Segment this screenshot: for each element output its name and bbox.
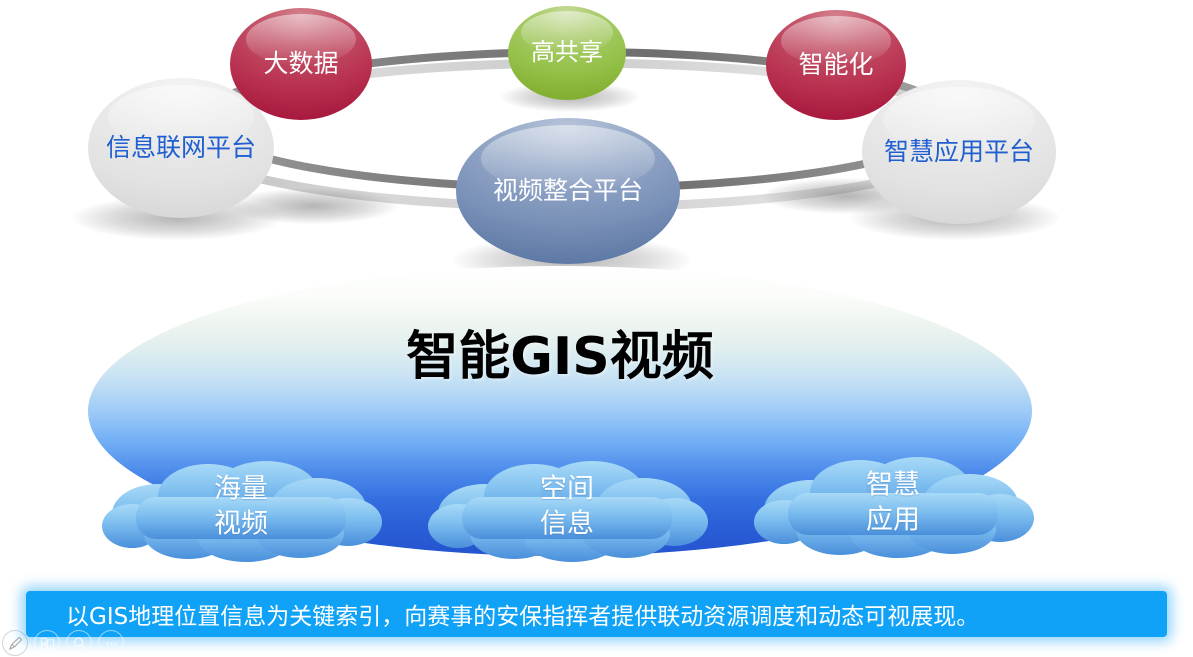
cloud-smart-application[interactable]: 智慧 应用 — [748, 448, 1038, 558]
cloud-label: 空间 信息 — [422, 472, 712, 541]
caption-bar: 以GIS地理位置信息为关键索引，向赛事的安保指挥者提供联动资源调度和动态可视展现… — [26, 591, 1167, 637]
sphere-high-sharing[interactable]: 高共享 — [508, 6, 626, 100]
sphere-label: 高共享 — [531, 39, 603, 67]
cloud-label: 海量 视频 — [96, 472, 386, 541]
sphere-label: 智慧应用平台 — [884, 138, 1034, 167]
cloud-spatial-information[interactable]: 空间 信息 — [422, 452, 712, 562]
cloud-label-line1: 智慧 — [748, 468, 1038, 503]
magnifier-icon[interactable] — [66, 630, 92, 656]
sphere-video-integration-platform[interactable]: 视频整合平台 — [456, 118, 680, 264]
pen-icon[interactable] — [2, 630, 28, 656]
cloud-label-line2: 视频 — [96, 507, 386, 542]
page-title: 智能GIS视频 — [88, 314, 1032, 389]
cloud-massive-video[interactable]: 海量 视频 — [96, 452, 386, 562]
sphere-label: 智能化 — [798, 51, 873, 80]
caption-text: 以GIS地理位置信息为关键索引，向赛事的安保指挥者提供联动资源调度和动态可视展现… — [26, 597, 979, 631]
sphere-label: 大数据 — [263, 50, 338, 79]
slide-navigator-icon[interactable] — [34, 630, 60, 656]
sphere-label: 视频整合平台 — [493, 177, 643, 206]
cloud-label-line2: 应用 — [748, 503, 1038, 538]
cloud-label-line2: 信息 — [422, 507, 712, 542]
more-options-icon[interactable] — [98, 630, 124, 656]
cloud-label-line1: 空间 — [422, 472, 712, 507]
sphere-shadow — [228, 188, 398, 224]
presentation-slide: 信息联网平台 大数据 高共享 智能化 智慧应用平台 视频整合平台 智能GIS视频 — [0, 0, 1193, 657]
sphere-label: 信息联网平台 — [106, 134, 256, 163]
cloud-label-line1: 海量 — [96, 472, 386, 507]
presentation-toolbar — [2, 630, 124, 656]
cloud-label: 智慧 应用 — [748, 468, 1038, 537]
sphere-big-data[interactable]: 大数据 — [230, 8, 372, 120]
sphere-intelligentization[interactable]: 智能化 — [766, 10, 906, 120]
sphere-smart-application-platform[interactable]: 智慧应用平台 — [862, 80, 1056, 224]
